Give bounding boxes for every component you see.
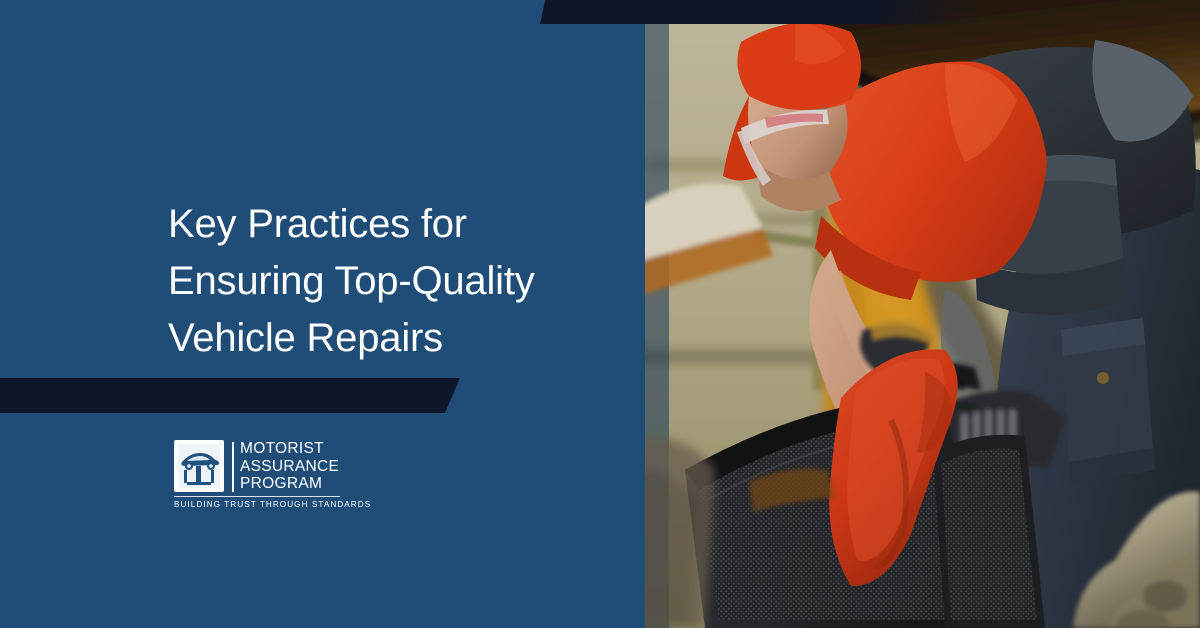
- logo-divider: [232, 442, 234, 492]
- car-on-lift-glyph: [174, 440, 224, 492]
- accent-bar-left: [0, 378, 460, 413]
- headline-line-2: Ensuring Top-Quality: [168, 253, 628, 310]
- logo-word-3: PROGRAM: [240, 475, 339, 493]
- car-on-lift-icon: [174, 440, 224, 492]
- accent-bar-top: [540, 0, 870, 24]
- motorist-assurance-program-logo: MOTORIST ASSURANCE PROGRAM BUILDING TRUS…: [174, 440, 340, 516]
- mechanic-photo: [645, 0, 1200, 628]
- headline-line-3: Vehicle Repairs: [168, 310, 628, 367]
- logo-rule: [174, 496, 340, 497]
- logo-wordmark: MOTORIST ASSURANCE PROGRAM: [240, 440, 339, 493]
- logo-tagline: BUILDING TRUST THROUGH STANDARDS: [174, 500, 340, 509]
- left-content-panel: Key Practices for Ensuring Top-Quality V…: [0, 0, 645, 628]
- photo-illustration: [645, 0, 1200, 628]
- promo-banner: Key Practices for Ensuring Top-Quality V…: [0, 0, 1200, 628]
- accent-bar-top-fade: [860, 0, 980, 24]
- headline-line-1: Key Practices for: [168, 196, 628, 253]
- logo-word-2: ASSURANCE: [240, 458, 339, 476]
- page-title: Key Practices for Ensuring Top-Quality V…: [168, 196, 628, 367]
- logo-word-1: MOTORIST: [240, 440, 339, 458]
